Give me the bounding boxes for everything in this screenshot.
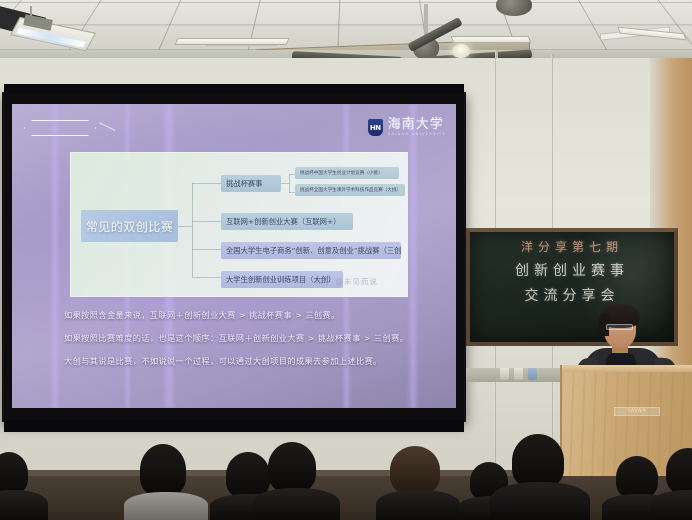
mindmap-node-challenge-cup-sub-2: 挑战杯全国大学生课外学术科技作品竞赛（大挑） — [295, 184, 405, 196]
slide-bullet-list: 如果按照含金量来说，互联网＋创新创业大赛 > 挑战杯赛事 > 三创赛。 如果按照… — [64, 309, 454, 378]
audience-member — [0, 446, 40, 520]
university-name-en: HAINAN UNIVERSITY — [388, 133, 446, 136]
mindmap-node-sanchuang: 全国大学生电子商务“创新、创意及创业”挑战赛（三创赛） — [221, 242, 401, 259]
slide-surface: HN 海南大学 HAINAN UNIVERSITY — [12, 104, 456, 408]
mindmap-connector — [192, 183, 193, 277]
mindmap-node-internet-plus: 互联网+创新创业大赛（互联网+） — [221, 213, 353, 230]
cup-icon — [500, 368, 509, 380]
university-badge-icon: HN — [367, 118, 384, 137]
mindmap-connector — [281, 183, 289, 184]
screen-top-bar — [4, 84, 464, 94]
screen-bottom-bar — [4, 420, 464, 432]
university-name-cn: 海南大学 — [388, 118, 446, 131]
slide-bullet-3: 大创与其说是比赛，不如说说一个过程，可以通过大创项目的成果去参加上述比赛。 — [64, 355, 454, 367]
audience-member — [500, 428, 578, 520]
mindmap-connector — [192, 277, 221, 278]
mindmap-connector — [289, 174, 290, 193]
audience-member — [380, 440, 452, 520]
lecture-hall-photo: HN 海南大学 HAINAN UNIVERSITY — [0, 0, 692, 520]
mindmap-node-challenge-cup: 挑战杯赛事 — [221, 175, 281, 192]
audience-member — [660, 440, 692, 520]
glasses-icon — [606, 324, 633, 330]
mindmap-connector — [178, 226, 192, 227]
hexagon-tail-icon — [99, 122, 116, 131]
mindmap-connector — [192, 183, 221, 184]
slide-bullet-1: 如果按照含金量来说，互联网＋创新创业大赛 > 挑战杯赛事 > 三创赛。 — [64, 309, 454, 321]
mindmap-node-challenge-cup-sub-1: 挑战杯中国大学生创业计划竞赛（小挑） — [295, 167, 399, 179]
hexagon-decoration-icon — [24, 120, 96, 136]
fan-light-icon — [452, 44, 470, 58]
zhihu-watermark: 知乎 @未见而说 — [315, 276, 378, 287]
mindmap-connector — [192, 221, 221, 222]
mindmap-card: 常见的双创比赛 挑战杯赛事 挑战杯中国大学生创业计划竞赛（小挑） 挑战杯全国大学… — [70, 152, 408, 297]
audience-member — [130, 438, 200, 520]
mindmap-root-node: 常见的双创比赛 — [81, 210, 178, 242]
fluorescent-light-icon — [174, 38, 289, 45]
slide-bullet-2: 如果按照比赛难度的话，也是这个顺序：互联网＋创新创业大赛 > 挑战杯赛事 > 三… — [64, 332, 454, 344]
cup-icon — [514, 368, 523, 380]
cup-icon — [528, 368, 537, 380]
mindmap-connector — [192, 249, 221, 250]
podium-nameplate: YAVNA — [614, 407, 660, 416]
audience-member — [262, 436, 328, 520]
ceiling-fan-icon — [440, 0, 600, 22]
university-logo: HN 海南大学 HAINAN UNIVERSITY — [367, 118, 446, 137]
projection-screen: HN 海南大学 HAINAN UNIVERSITY — [2, 92, 466, 422]
podium-top-surface — [562, 365, 692, 372]
